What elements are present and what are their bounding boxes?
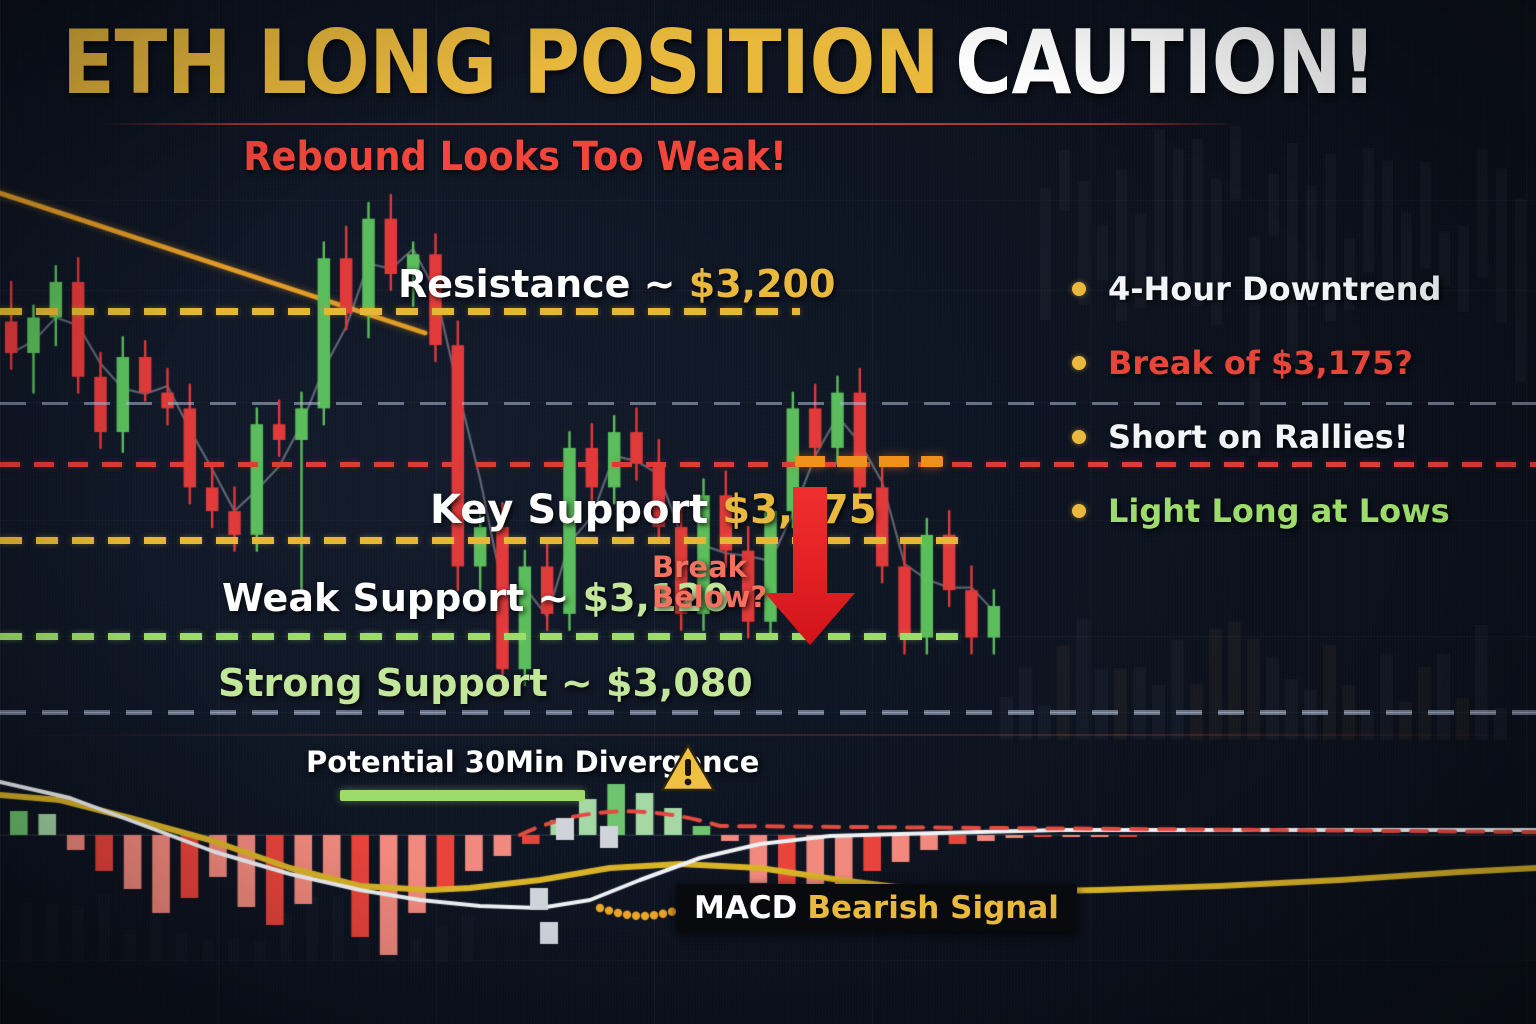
warning-triangle-icon (660, 743, 716, 793)
page-title: ETH LONG POSITION CAUTION! (62, 16, 1153, 108)
bullet-dot-icon (1072, 504, 1086, 518)
key-points-list: 4-Hour Downtrend Break of $3,175? Short … (1072, 252, 1512, 548)
resistance-label-text: Resistance ~ (398, 262, 689, 306)
bullet-item-2: Break of $3,175? (1072, 326, 1512, 400)
title-divider (100, 123, 1240, 125)
title-accent: CAUTION! (955, 11, 1376, 114)
bullet-item-1: 4-Hour Downtrend (1072, 252, 1512, 326)
subtitle: Rebound Looks Too Weak! (41, 134, 989, 180)
bullet-dot-icon (1072, 356, 1086, 370)
bullet-dot-icon (1072, 282, 1086, 296)
infographic-canvas: ETH LONG POSITION CAUTION! Rebound Looks… (0, 0, 1536, 1024)
title-primary: ETH LONG POSITION (62, 11, 939, 114)
bullet-label-2: Break of $3,175? (1108, 344, 1413, 382)
strong-support-label-text: Strong Support ~ (218, 661, 606, 705)
strong-support-label: Strong Support ~ $3,080 (218, 661, 753, 705)
macd-tag-rest: Bearish Signal (807, 890, 1059, 926)
bullet-label-1: 4-Hour Downtrend (1108, 270, 1441, 308)
highlight-level-segment (795, 456, 943, 467)
down-arrow-icon (760, 487, 860, 647)
strong-support-level-line (0, 712, 1536, 715)
break-below-annotation: Break Below? (652, 552, 772, 612)
bullet-label-4: Light Long at Lows (1108, 492, 1450, 530)
bullet-item-3: Short on Rallies! (1072, 400, 1512, 474)
bullet-label-3: Short on Rallies! (1108, 418, 1408, 456)
bullet-dot-icon (1072, 430, 1086, 444)
divergence-marker-bar (340, 790, 585, 801)
break-below-line-1: Break (652, 552, 772, 582)
macd-tag-bold: MACD (694, 890, 797, 926)
bullet-item-4: Light Long at Lows (1072, 474, 1512, 548)
break-below-line-2: Below? (652, 582, 772, 612)
key-support-label-text: Key Support (430, 487, 722, 533)
resistance-label: Resistance ~ $3,200 (398, 262, 835, 306)
strong-support-value: $3,080 (606, 661, 753, 705)
macd-indicator-panel (0, 740, 1536, 1024)
resistance-level-line (0, 308, 800, 315)
macd-signal-tag: MACD Bearish Signal (676, 884, 1077, 932)
header: ETH LONG POSITION CAUTION! Rebound Looks… (0, 0, 1536, 200)
resistance-value: $3,200 (689, 262, 836, 306)
weak-support-label-text: Weak Support ~ (222, 576, 583, 620)
